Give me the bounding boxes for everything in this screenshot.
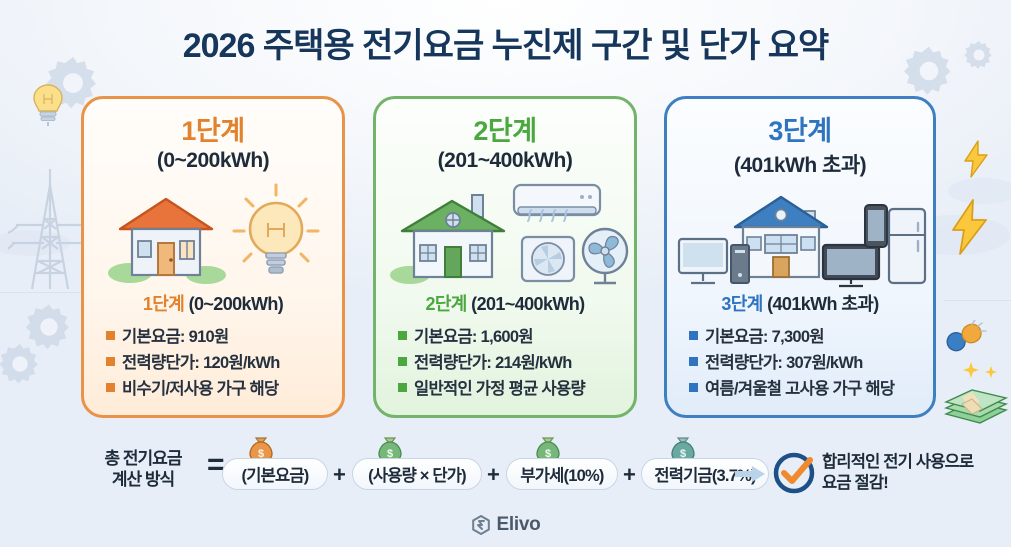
- bullet-square-icon: [106, 383, 115, 392]
- tier-2-illustration: [376, 179, 634, 287]
- brand-name: Elivo: [497, 514, 541, 536]
- tier-3-fact-2-text: 여름/겨울철 고사용 가구 해당: [705, 375, 894, 399]
- tier-3-facts-heading-rest: (401kWh 초과): [763, 294, 879, 314]
- tier-2-fact-2: 일반적인 가정 평균 사용량: [398, 375, 622, 399]
- tier-3-fact-2: 여름/겨울철 고사용 가구 해당: [689, 375, 921, 399]
- tier-1-fact-2-text: 비수기/저사용 가구 해당: [122, 375, 278, 399]
- lightbulb-icon: [28, 82, 68, 128]
- tier-1-range: (0~200kWh): [84, 149, 342, 173]
- transmission-tower-icon: [8, 165, 92, 293]
- bullet-square-icon: [106, 357, 115, 366]
- tier-1-fact-2: 비수기/저사용 가구 해당: [106, 375, 330, 399]
- tier-1-facts-heading-bold: 1단계: [143, 294, 184, 314]
- result-line2: 요금 절감!: [822, 473, 1007, 494]
- bullet-square-icon: [106, 331, 115, 340]
- tier-3-facts-heading-bold: 3단계: [721, 294, 762, 314]
- tier-3-illustration: [667, 185, 933, 293]
- tier-2-fact-1: 전력량단가: 214원/kWh: [398, 349, 622, 373]
- tier-2-fact-1-text: 전력량단가: 214원/kWh: [414, 349, 572, 373]
- cloud-left: [0, 230, 70, 256]
- bullet-square-icon: [398, 331, 407, 340]
- tier-card-2: 2단계 (201~400kWh): [373, 96, 637, 418]
- formula-term-2: 부가세(10%): [506, 458, 618, 490]
- house-icon: [106, 185, 226, 285]
- formula-label-line2: 계산 방식: [78, 469, 208, 490]
- tier-3-facts-heading: 3단계 (401kWh 초과): [679, 290, 921, 316]
- result-text: 합리적인 전기 사용으로 요금 절감!: [822, 452, 1007, 495]
- tier-1-facts-heading: 1단계 (0~200kWh): [96, 290, 330, 316]
- elivo-logo-icon: [471, 515, 491, 535]
- tier-3-range: (401kWh 초과): [667, 149, 933, 179]
- ground-line-right: [944, 300, 1011, 301]
- tier-3-heading: 3단계: [667, 109, 933, 148]
- capsule-icon: [942, 320, 988, 354]
- formula-term-0: (기본요금): [222, 458, 328, 490]
- infographic-page: 2026 주택용 전기요금 누진제 구간 및 단가 요약 1단계 (0~200k…: [0, 0, 1011, 547]
- lightning-bolt-icon: [962, 140, 990, 178]
- tier-2-fact-0-text: 기본요금: 1,600원: [414, 323, 533, 347]
- formula-operator-2: +: [623, 462, 636, 488]
- sparkle-icon: [962, 360, 1002, 382]
- house-icon: [390, 189, 518, 285]
- formula-term-1: (사용량 × 단가): [352, 458, 482, 490]
- tier-1-facts: 1단계 (0~200kWh) 기본요금: 910원 전력량단가: 120원/kW…: [84, 290, 342, 401]
- result-line1: 합리적인 전기 사용으로: [822, 452, 1007, 473]
- bullet-square-icon: [689, 383, 698, 392]
- tier-3-fact-0-text: 기본요금: 7,300원: [705, 323, 824, 347]
- tier-2-heading: 2단계: [376, 109, 634, 148]
- tier-2-fact-0: 기본요금: 1,600원: [398, 323, 622, 347]
- tier-3-fact-1-text: 전력량단가: 307원/kWh: [705, 349, 863, 373]
- lightbulb-icon: [224, 179, 328, 287]
- tier-card-1: 1단계 (0~200kWh): [81, 96, 345, 418]
- gear-icon: [22, 300, 76, 354]
- bullet-square-icon: [398, 357, 407, 366]
- tier-1-fact-1-text: 전력량단가: 120원/kWh: [122, 349, 280, 373]
- formula-operator-0: +: [333, 462, 346, 488]
- tier-2-fact-2-text: 일반적인 가정 평균 사용량: [414, 375, 585, 399]
- formula-label-line1: 총 전기요금: [78, 448, 208, 469]
- bullet-square-icon: [398, 383, 407, 392]
- air-conditioner-icon: [508, 179, 637, 287]
- cash-stack-icon: [940, 382, 1011, 432]
- bullet-square-icon: [689, 357, 698, 366]
- tier-1-fact-1: 전력량단가: 120원/kWh: [106, 349, 330, 373]
- tier-2-range: (201~400kWh): [376, 149, 634, 173]
- tier-1-fact-0-text: 기본요금: 910원: [122, 323, 229, 347]
- tier-3-fact-1: 전력량단가: 307원/kWh: [689, 349, 921, 373]
- house-with-appliances-icon: [677, 187, 927, 293]
- tier-2-facts-heading-bold: 2단계: [425, 294, 466, 314]
- formula-operator-1: +: [487, 462, 500, 488]
- ground-line-left: [0, 292, 90, 293]
- tier-1-facts-heading-rest: (0~200kWh): [184, 294, 283, 314]
- page-title: 2026 주택용 전기요금 누진제 구간 및 단가 요약: [0, 18, 1011, 67]
- tier-1-fact-0: 기본요금: 910원: [106, 323, 330, 347]
- tier-1-illustration: [84, 179, 342, 287]
- cloud-right-small: [948, 178, 1011, 204]
- formula-label: 총 전기요금 계산 방식: [78, 448, 208, 491]
- arrow-right-icon: [735, 466, 765, 482]
- bullet-square-icon: [689, 331, 698, 340]
- tier-3-fact-0: 기본요금: 7,300원: [689, 323, 921, 347]
- tier-3-facts: 3단계 (401kWh 초과) 기본요금: 7,300원 전력량단가: 307원…: [667, 290, 933, 401]
- tier-2-facts: 2단계 (201~400kWh) 기본요금: 1,600원 전력량단가: 214…: [376, 290, 634, 401]
- footer: Elivo: [0, 514, 1011, 536]
- formula-row: 총 전기요금 계산 방식 = $ (기본요금) + $ (사용량 × 단가) +…: [0, 440, 1011, 510]
- tier-1-heading: 1단계: [84, 109, 342, 148]
- tier-2-facts-heading: 2단계 (201~400kWh): [388, 290, 622, 316]
- tier-2-facts-heading-rest: (201~400kWh): [467, 294, 585, 314]
- tier-card-3: 3단계 (401kWh 초과): [664, 96, 936, 418]
- lightning-bolt-icon: [948, 198, 990, 256]
- gear-icon: [0, 340, 44, 388]
- check-circle-icon: [772, 451, 816, 495]
